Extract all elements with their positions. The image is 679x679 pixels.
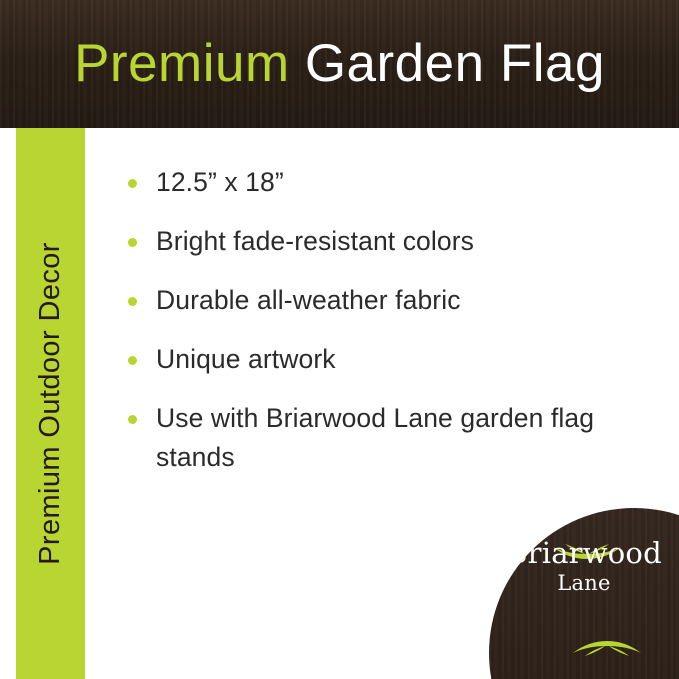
page-title-rest: Garden Flag bbox=[290, 34, 605, 93]
list-item-label: Bright fade-resistant colors bbox=[156, 226, 474, 256]
side-strip-label-wrap: Premium Outdoor Decor bbox=[16, 128, 85, 679]
list-item-label: Unique artwork bbox=[156, 344, 336, 374]
list-item: Bright fade-resistant colors bbox=[125, 222, 635, 261]
list-item: Durable all-weather fabric bbox=[125, 281, 635, 320]
bullet-dot-icon bbox=[128, 297, 137, 306]
page-title-highlight: Premium bbox=[74, 34, 290, 93]
leaf-icon bbox=[555, 636, 659, 662]
brand-name: Briarwood bbox=[489, 536, 679, 570]
list-item: Use with Briarwood Lane garden flag stan… bbox=[125, 399, 635, 477]
product-info-graphic: Premium Garden Flag Premium Outdoor Deco… bbox=[0, 0, 679, 679]
bullet-dot-icon bbox=[128, 238, 137, 247]
list-item-label: Durable all-weather fabric bbox=[156, 285, 461, 315]
bullet-dot-icon bbox=[128, 415, 137, 424]
header-banner: Premium Garden Flag bbox=[0, 0, 679, 128]
list-item-label: Use with Briarwood Lane garden flag stan… bbox=[156, 403, 594, 472]
brand-text: Briarwood Lane bbox=[489, 536, 679, 596]
bullet-dot-icon bbox=[128, 179, 137, 188]
side-strip-label: Premium Outdoor Decor bbox=[34, 242, 67, 565]
page-title: Premium Garden Flag bbox=[0, 33, 679, 95]
bullet-dot-icon bbox=[128, 356, 137, 365]
list-item: 12.5” x 18” bbox=[125, 163, 635, 202]
feature-list: 12.5” x 18” Bright fade-resistant colors… bbox=[125, 163, 635, 497]
brand-subtitle: Lane bbox=[489, 570, 679, 596]
list-item-label: 12.5” x 18” bbox=[156, 167, 284, 197]
list-item: Unique artwork bbox=[125, 340, 635, 379]
